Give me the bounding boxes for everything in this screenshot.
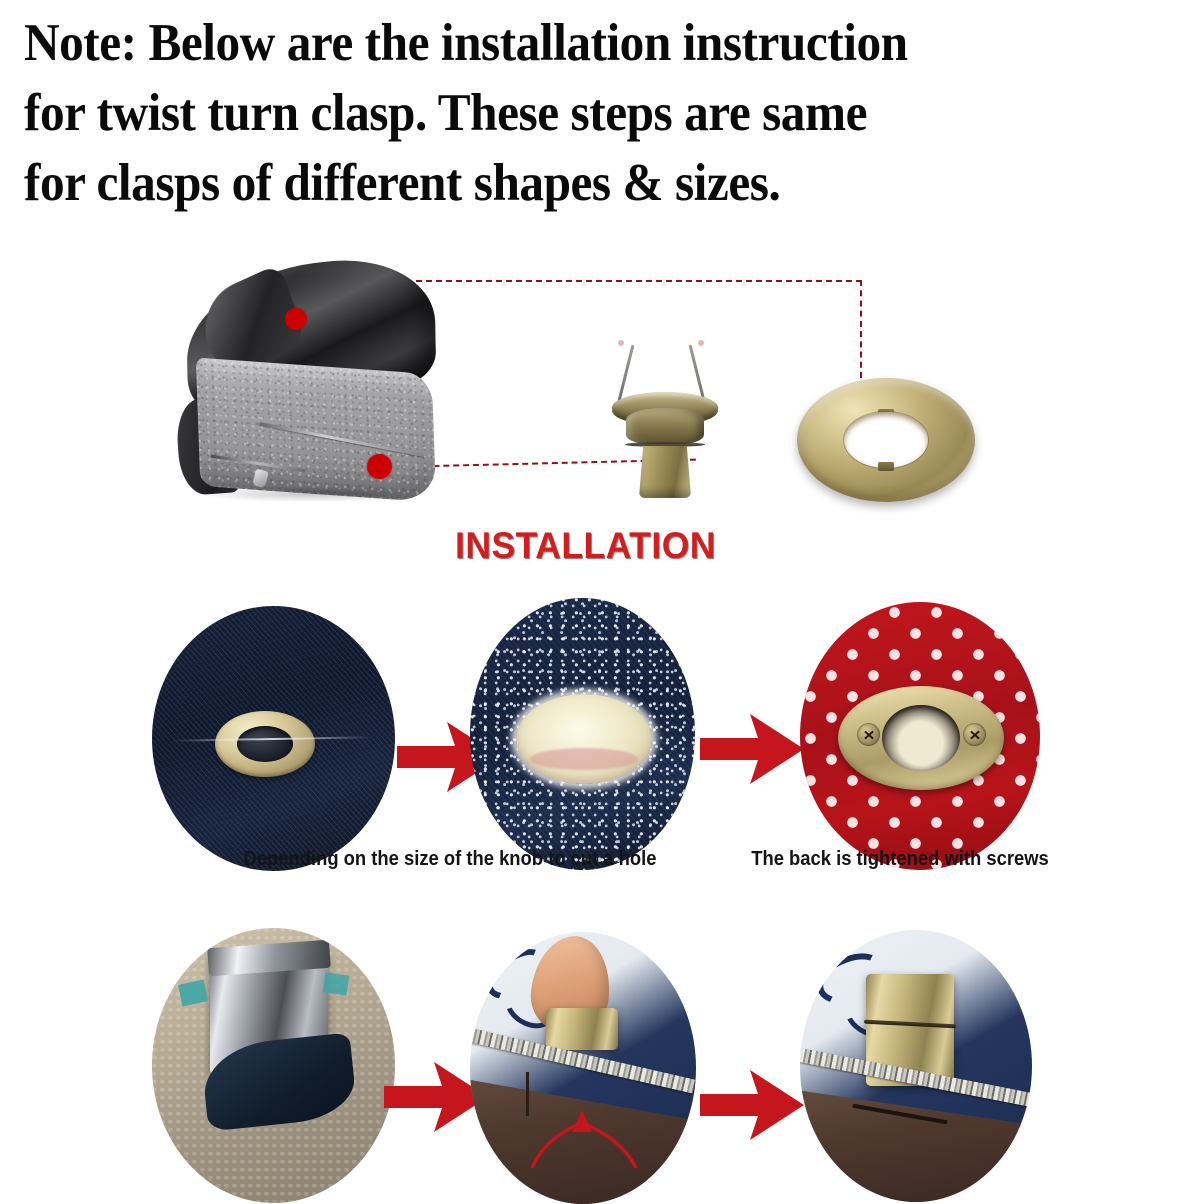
callout-line-top-right-vertical bbox=[860, 280, 862, 378]
bag-drop-shadow bbox=[196, 486, 426, 502]
bag-photo bbox=[150, 248, 480, 518]
felt-texture bbox=[196, 358, 436, 503]
screw-right bbox=[963, 723, 986, 746]
arrow-step5-to-step6 bbox=[700, 1066, 808, 1144]
arrow-step2-to-step3 bbox=[700, 710, 808, 788]
step-mark-hole bbox=[152, 606, 395, 871]
brass-ring-washer bbox=[797, 378, 975, 502]
stitch-line bbox=[526, 1072, 529, 1116]
page-title-line-1: Note: Below are the installation instruc… bbox=[24, 8, 1103, 78]
page-title: Note: Below are the installation instruc… bbox=[24, 8, 1103, 218]
ring-center-hole bbox=[844, 412, 928, 468]
step-screw-plate-caption: The back is tightened with screws bbox=[716, 848, 1084, 871]
knob-neck bbox=[626, 408, 704, 444]
page-title-line-3: for clasps of different shapes & sizes. bbox=[24, 148, 1103, 218]
step-screw-plate bbox=[800, 602, 1040, 870]
step-cut-hole-caption: Depending on the size of the knob to cut… bbox=[202, 848, 699, 871]
plate-center-hole bbox=[882, 705, 960, 771]
steps-row-1: Depending on the size of the knob to cut… bbox=[0, 592, 1200, 892]
flap-callout-dot bbox=[285, 308, 307, 330]
knob-outline-inner bbox=[237, 726, 293, 762]
knob-prong-right-tip bbox=[698, 340, 704, 346]
brass-knob-being-pressed bbox=[546, 1008, 618, 1050]
page-title-line-2: for twist turn clasp. These steps are sa… bbox=[24, 78, 1103, 148]
teal-accent-right bbox=[323, 972, 350, 995]
knob-outline-on-fabric bbox=[215, 711, 315, 777]
knob-square-stem bbox=[639, 446, 691, 498]
cut-oval-hole bbox=[516, 694, 652, 784]
screw-left bbox=[857, 723, 880, 746]
body-callout-dot bbox=[367, 454, 392, 479]
step-installed-knob bbox=[800, 930, 1032, 1202]
knob-prong-left-tip bbox=[618, 340, 624, 346]
twist-turn-knob-part bbox=[600, 330, 730, 500]
step-cut-hole bbox=[470, 598, 695, 870]
step-clasp-closeup bbox=[152, 928, 395, 1203]
ring-notch-bottom bbox=[878, 462, 894, 471]
steps-row-2 bbox=[0, 918, 1200, 1200]
insert-direction-arrow bbox=[524, 1110, 644, 1180]
installation-label: INSTALLATION bbox=[455, 525, 716, 567]
step-press-knob bbox=[470, 932, 696, 1204]
bag-felt-body bbox=[196, 358, 436, 503]
cut-hole-lining bbox=[530, 748, 638, 770]
